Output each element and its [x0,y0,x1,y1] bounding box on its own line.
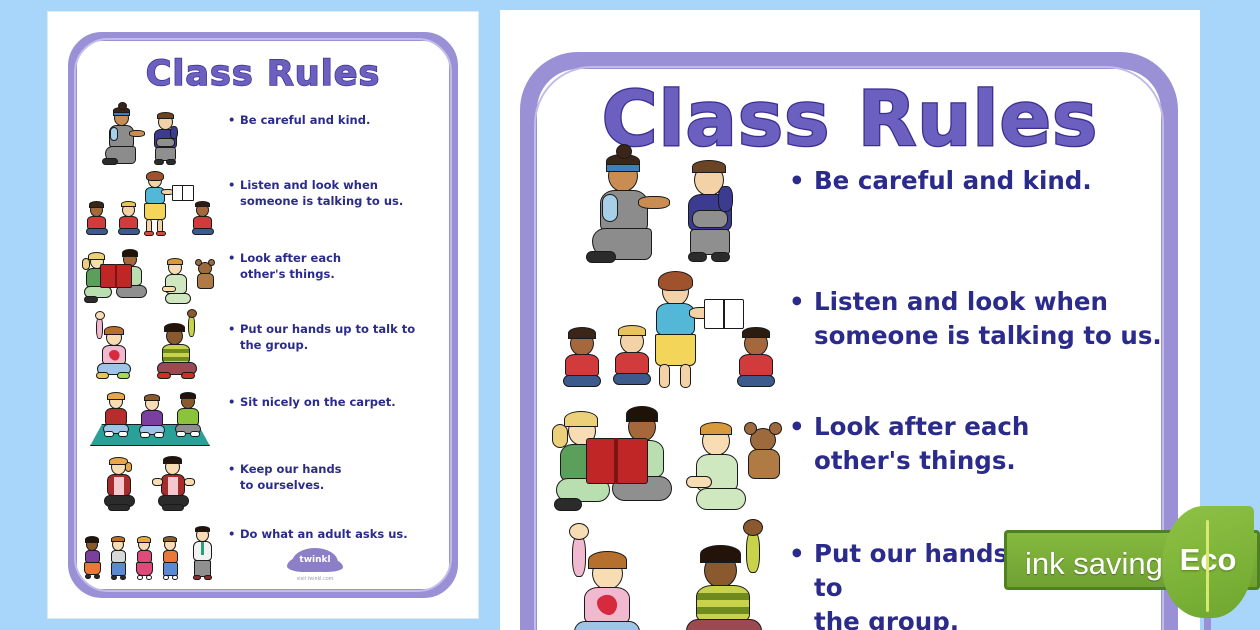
rule-text: • Look after each other's things. [789,396,1174,478]
rules-list-left: • Be careful and kind. [78,104,454,583]
eco-label: Eco [1162,542,1254,578]
ink-saving-eco-badge: ink saving Eco [1004,530,1260,594]
bullet-glyph: • [789,410,814,478]
poster-thumbnail-left[interactable]: Class Rules [48,12,478,618]
rule-text: • Listen and look when someone is talkin… [228,169,454,209]
leaf-icon: Eco [1162,506,1254,618]
children-sharing-book-and-teddy-icon [78,242,228,310]
list-item[interactable]: • Listen and look when someone is talkin… [78,169,454,239]
twinkl-wordmark: twinkl [292,548,338,572]
list-item[interactable]: • Sit nicely on the carpet. [78,386,454,450]
adult-with-line-of-children-icon [78,518,228,580]
rule-text: • Put our hands up to talk to the group. [228,313,454,353]
twinkl-cloud-icon: twinkl [292,548,338,572]
leaf-stem-icon [1204,618,1211,630]
ink-saving-label: ink saving [1025,546,1163,582]
bullet-glyph: • [228,526,240,542]
rule-text: • Do what an adult asks us. [228,518,454,542]
twinkl-url: visit twinkl.com [284,576,346,582]
rule-text: • Be careful and kind. [228,104,454,128]
screenshot-canvas: Class Rules [0,0,1260,630]
bullet-glyph: • [789,537,814,630]
three-children-on-carpet-icon [78,386,228,450]
rule-text: • Listen and look when someone is talkin… [789,271,1174,353]
list-item[interactable]: • Do what an adult asks us. [78,518,454,580]
list-item[interactable]: • Put our hands up to talk to the group. [78,313,454,383]
list-item[interactable]: • Be careful and kind. [544,150,1174,262]
two-children-hands-up-icon [544,523,789,630]
teacher-reading-to-children-icon [544,271,789,387]
rule-text: • Look after each other's things. [228,242,454,282]
teacher-reading-to-children-icon [78,169,228,239]
list-item[interactable]: • Listen and look when someone is talkin… [544,271,1174,387]
twinkl-logo[interactable]: twinkl visit twinkl.com [284,548,346,582]
bullet-glyph: • [228,394,240,410]
bullet-glyph: • [789,164,814,198]
bullet-glyph: • [228,177,240,209]
rule-text: • Be careful and kind. [789,150,1174,198]
page-title-left: Class Rules [48,54,478,94]
rule-text: • Keep our hands to ourselves. [228,453,454,493]
bullet-glyph: • [228,461,240,493]
adult-comforting-child-icon [78,104,228,166]
adult-comforting-child-icon [544,150,789,262]
bullet-glyph: • [228,321,240,353]
list-item[interactable]: • Look after each other's things. [544,396,1174,514]
list-item[interactable]: • Be careful and kind. [78,104,454,166]
bullet-glyph: • [789,285,814,353]
two-children-hands-to-self-icon [78,453,228,515]
rule-text: • Sit nicely on the carpet. [228,386,454,410]
list-item[interactable]: • Keep our hands to ourselves. [78,453,454,515]
bullet-glyph: • [228,250,240,282]
two-children-hands-up-icon [78,313,228,383]
bullet-glyph: • [228,112,240,128]
children-sharing-book-and-teddy-icon [544,396,789,514]
list-item[interactable]: • Look after each other's things. [78,242,454,310]
